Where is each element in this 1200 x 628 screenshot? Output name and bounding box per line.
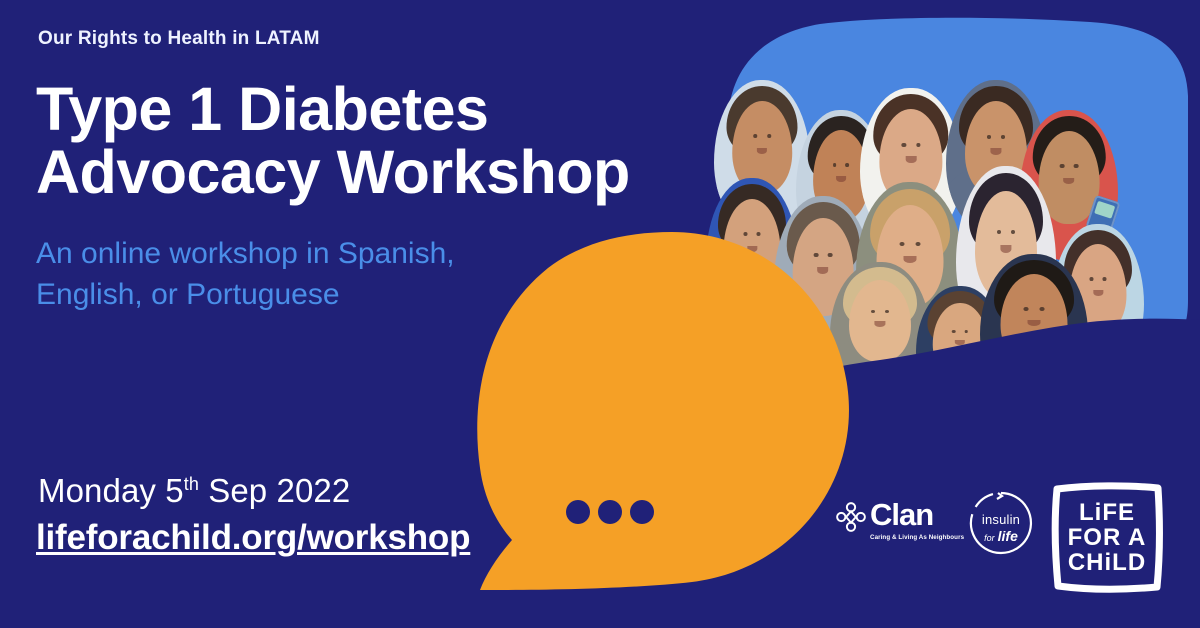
subtitle-line-1: An online workshop in Spanish, — [36, 237, 455, 270]
bubble-dot — [630, 500, 654, 524]
life-for-a-child-wordmark: LiFE FOR A CHiLD — [1048, 500, 1166, 575]
clan-wordmark: Clan — [870, 498, 933, 532]
insulin-word: insulin — [968, 512, 1034, 527]
for-life-words: forlife — [968, 528, 1034, 544]
lfac-line-3: CHiLD — [1048, 550, 1166, 575]
collage-person — [980, 254, 1088, 400]
logo-lockup: Clan Caring & Living As Neighbours insul… — [836, 480, 1166, 595]
bubble-dot — [598, 500, 622, 524]
lfac-line-1: LiFE — [1048, 500, 1166, 525]
subtitle-line-2: English, or Portuguese — [36, 275, 556, 316]
life-word: life — [998, 528, 1018, 544]
clan-logo[interactable]: Clan Caring & Living As Neighbours — [836, 496, 966, 554]
four-lobe-clover-icon — [836, 502, 866, 532]
title-line-1: Type 1 Diabetes — [36, 75, 488, 143]
kicker-text: Our Rights to Health in LATAM — [38, 28, 320, 50]
event-date-rest: Sep 2022 — [199, 472, 350, 509]
title-line-2: Advocacy Workshop — [36, 141, 696, 204]
page-title: Type 1 Diabetes Advocacy Workshop — [36, 78, 696, 205]
event-date: Monday 5th Sep 2022 — [38, 472, 350, 510]
participant-photo-collage — [718, 18, 1198, 378]
clan-tagline: Caring & Living As Neighbours — [870, 534, 964, 541]
promo-poster: Our Rights to Health in LATAM Type 1 Dia… — [0, 0, 1200, 628]
collage-person — [830, 262, 930, 394]
lfac-line-2: FOR A — [1048, 525, 1166, 550]
for-word: for — [984, 533, 995, 543]
registration-url[interactable]: lifeforachild.org/workshop — [36, 518, 470, 558]
subtitle: An online workshop in Spanish, English, … — [36, 234, 556, 316]
insulin-for-life-logo[interactable]: insulin forlife — [968, 490, 1034, 556]
life-for-a-child-logo[interactable]: LiFE FOR A CHiLD — [1048, 478, 1166, 596]
event-date-ordinal-suffix: th — [184, 474, 199, 494]
event-date-main: Monday 5 — [38, 472, 184, 509]
bubble-dot — [566, 500, 590, 524]
